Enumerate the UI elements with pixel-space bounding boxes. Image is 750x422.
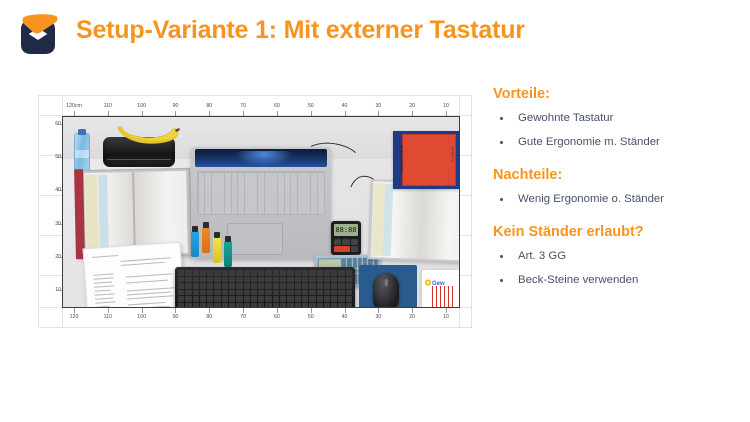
ruler-bottom-tick: 50 — [308, 314, 314, 320]
book-left-spine — [74, 169, 85, 259]
ruler-bottom-tickmark — [243, 308, 244, 313]
ruler-top-tick: 60 — [274, 103, 280, 109]
ruler-bottom-tickmark — [175, 308, 176, 313]
ruler-top-tick: 90 — [173, 103, 179, 109]
highlighter-blue — [191, 231, 199, 257]
ruler-top-tick: 100 — [137, 103, 146, 109]
book-left-tab-yellow — [85, 175, 99, 253]
page-header: Setup-Variante 1: Mit externer Tastatur — [0, 0, 750, 72]
ruler-bottom-tickmark — [446, 308, 447, 313]
envelope-logo — [15, 11, 61, 55]
pencil-case-zipper — [107, 159, 171, 160]
highlighters — [191, 225, 247, 267]
exam-paper — [83, 242, 186, 308]
ruler-bottom-tickmark — [74, 308, 75, 313]
ruler-top: 120cm110100908070605040302010 — [62, 103, 458, 117]
list-item: Wenig Ergonomie o. Ständer — [493, 192, 741, 206]
highlighter-orange — [202, 227, 210, 253]
ruler-bottom-tickmark — [108, 308, 109, 313]
desk-setup-photo: 120cm110100908070605040302010 1201101009… — [38, 95, 472, 328]
open-book-right — [368, 179, 460, 263]
ruler-bottom: 120110100908070605040302010 — [62, 308, 458, 322]
list-kein-staender: Art. 3 GG Beck-Steine verwenden — [493, 249, 741, 287]
ruler-bottom-tickmark — [345, 308, 346, 313]
highlighter-teal — [224, 241, 232, 267]
banana — [115, 125, 181, 147]
laptop-screen — [195, 149, 327, 167]
ruler-bottom-tick: 30 — [375, 314, 381, 320]
ruler-top-tick: 50 — [308, 103, 314, 109]
book-left-tab-blue — [98, 175, 109, 253]
list-item: Beck-Steine verwenden — [493, 273, 741, 287]
water-bottle — [74, 133, 90, 173]
external-keyboard — [175, 267, 355, 308]
binder-publisher: C.H.BECK — [451, 147, 455, 162]
page-title: Setup-Variante 1: Mit externer Tastatur — [76, 16, 525, 45]
ruler-top-tick: 80 — [206, 103, 212, 109]
ruler-bottom-tick: 100 — [137, 314, 146, 320]
laptop-keyboard — [197, 171, 325, 215]
keyboard-rows — [178, 270, 352, 308]
binder-title: Steuerrecht — [399, 145, 404, 173]
list-item: Gewohnte Tastatur — [493, 111, 741, 125]
ruler-bottom-tickmark — [277, 308, 278, 313]
section-heading-nachteile: Nachteile: — [493, 167, 741, 183]
ruler-bottom-tickmark — [412, 308, 413, 313]
list-item: Art. 3 GG — [493, 249, 741, 263]
ruler-bottom-tick: 40 — [342, 314, 348, 320]
info-flyer: Gew — [421, 269, 460, 308]
bottle-label — [75, 150, 89, 158]
binder-cover — [402, 134, 456, 186]
ruler-top-tick: 40 — [342, 103, 348, 109]
ruler-bottom-tick: 120 — [70, 314, 79, 320]
ruler-bottom-tickmark — [142, 308, 143, 313]
ruler-bottom-tick: 110 — [104, 314, 112, 320]
digital-timer: 88:88 — [331, 221, 361, 255]
ruler-bottom-tick: 80 — [206, 314, 212, 320]
mouse-scroll-wheel — [385, 279, 388, 286]
list-nachteile: Wenig Ergonomie o. Ständer — [493, 192, 741, 206]
ruler-bottom-tickmark — [311, 308, 312, 313]
photo-image: 88:88 Steuerrecht — [62, 116, 460, 308]
bottle-cap — [78, 129, 86, 135]
ruler-bottom-tickmark — [378, 308, 379, 313]
ruler-bottom-tickmark — [209, 308, 210, 313]
content-column: Vorteile: Gewohnte Tastatur Gute Ergonom… — [493, 86, 741, 297]
ruler-top-tick: 70 — [240, 103, 246, 109]
ruler-top-tick: 20 — [409, 103, 415, 109]
ruler-left: 605040302010 — [44, 116, 62, 306]
list-item: Gute Ergonomie m. Ständer — [493, 135, 741, 149]
ruler-top-tick: 10 — [443, 103, 449, 109]
ruler-top-tick: 30 — [375, 103, 381, 109]
ruler-top-tick: 110 — [104, 103, 112, 109]
section-heading-kein-staender: Kein Ständer erlaubt? — [493, 224, 741, 240]
red-binder-steuerrecht: Steuerrecht C.H.BECK — [393, 131, 459, 189]
timer-buttons — [334, 239, 358, 252]
ruler-top-tick: 120cm — [66, 103, 82, 109]
ruler-bottom-tick: 10 — [443, 314, 449, 320]
ruler-bottom-tick: 90 — [173, 314, 179, 320]
timer-display: 88:88 — [334, 224, 358, 236]
ruler-bottom-tick: 20 — [409, 314, 415, 320]
list-vorteile: Gewohnte Tastatur Gute Ergonomie m. Stän… — [493, 111, 741, 149]
ruler-bottom-tick: 70 — [240, 314, 246, 320]
ruler-bottom-tick: 60 — [274, 314, 280, 320]
highlighter-yellow — [213, 237, 221, 263]
section-heading-vorteile: Vorteile: — [493, 86, 741, 102]
computer-mouse — [373, 273, 399, 308]
